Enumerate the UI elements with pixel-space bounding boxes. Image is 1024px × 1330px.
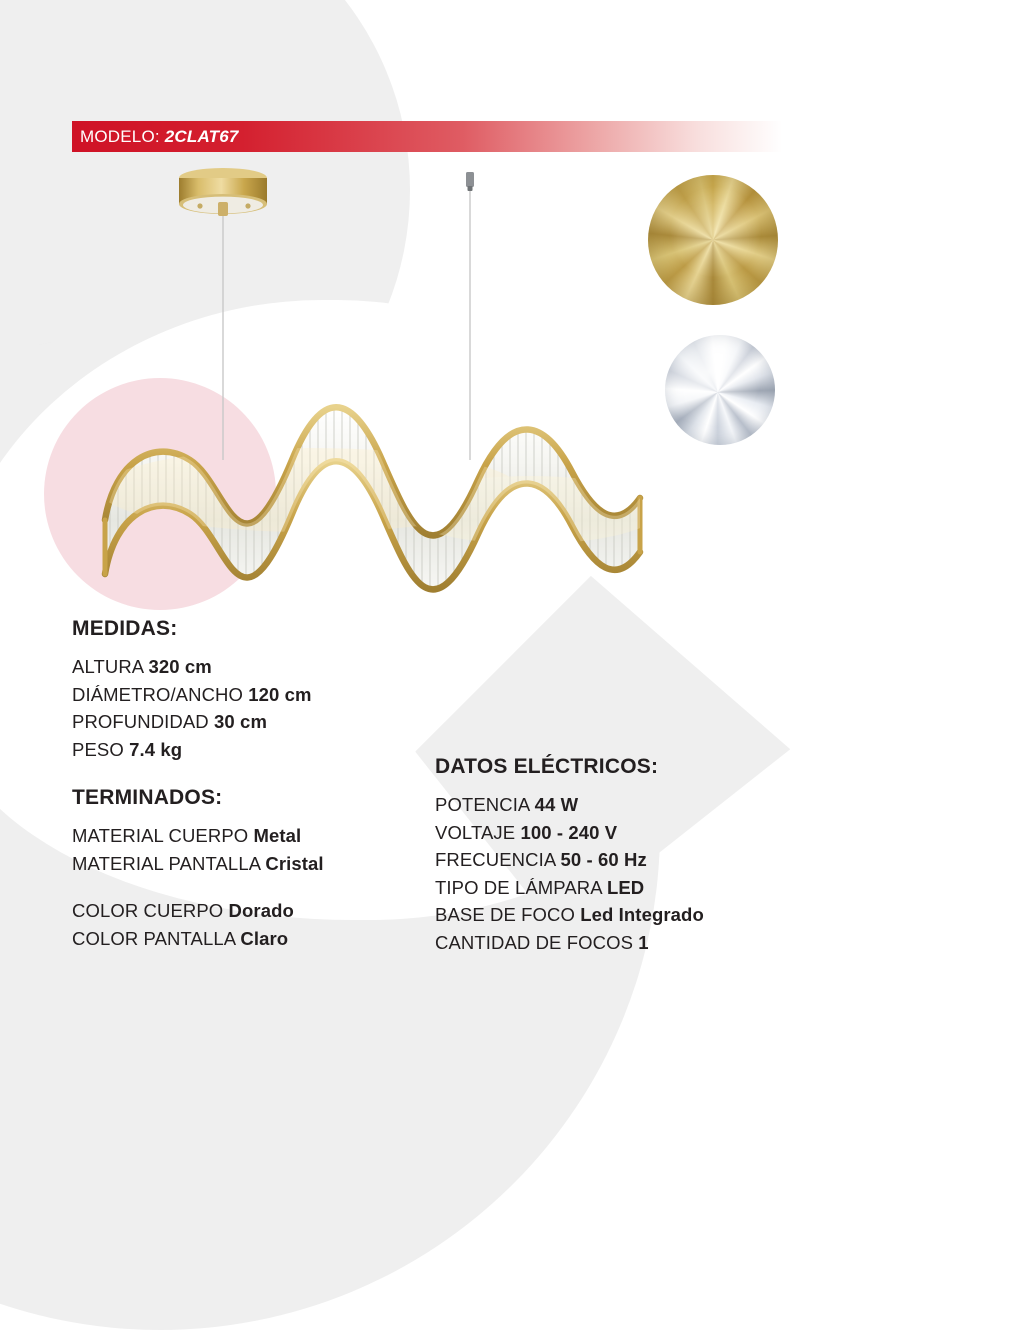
spec-row-peso: PESO 7.4 kg [72, 736, 312, 764]
spec-value: 50 - 60 Hz [561, 849, 647, 870]
cable-connector [466, 172, 474, 187]
spec-label: CANTIDAD DE FOCOS [435, 932, 633, 953]
spec-value: 100 - 240 V [520, 822, 617, 843]
wave-ribbon-body [100, 407, 660, 630]
electricos-heading: DATOS ELÉCTRICOS: [435, 755, 704, 779]
spec-label: VOLTAJE [435, 822, 515, 843]
cable-connector-tip [468, 186, 473, 191]
product-image [60, 160, 700, 610]
spec-value: Claro [240, 928, 288, 949]
spec-row-base-foco: BASE DE FOCO Led Integrado [435, 901, 704, 929]
model-banner: MODELO: 2CLAT67 [72, 121, 782, 152]
spec-value: Led Integrado [580, 904, 704, 925]
spec-label: MATERIAL CUERPO [72, 825, 248, 846]
spec-value: LED [607, 877, 644, 898]
spec-row-material-pantalla: MATERIAL PANTALLA Cristal [72, 850, 324, 878]
spec-row-color-pantalla: COLOR PANTALLA Claro [72, 925, 324, 953]
spec-value: 120 cm [248, 684, 311, 705]
spec-label: ALTURA [72, 656, 143, 677]
spec-value: 320 cm [148, 656, 211, 677]
datos-electricos-section: DATOS ELÉCTRICOS: POTENCIA 44 W VOLTAJE … [435, 755, 704, 956]
medidas-section: MEDIDAS: ALTURA 320 cm DIÁMETRO/ANCHO 12… [72, 617, 312, 763]
terminados-heading: TERMINADOS: [72, 786, 324, 810]
model-banner-text: MODELO: 2CLAT67 [80, 127, 239, 147]
spec-row-tipo-lampara: TIPO DE LÁMPARA LED [435, 874, 704, 902]
spec-value: 30 cm [214, 711, 267, 732]
terminados-section: TERMINADOS: MATERIAL CUERPO Metal MATERI… [72, 786, 324, 952]
product-spec-sheet: MODELO: 2CLAT67 [0, 0, 1024, 1024]
spec-value: Metal [254, 825, 302, 846]
spec-label: TIPO DE LÁMPARA [435, 877, 602, 898]
spec-label: POTENCIA [435, 794, 529, 815]
spec-value: 44 W [535, 794, 579, 815]
spec-label: PESO [72, 739, 124, 760]
model-code: 2CLAT67 [165, 127, 239, 146]
spec-label: MATERIAL PANTALLA [72, 853, 260, 874]
spec-label: DIÁMETRO/ANCHO [72, 684, 243, 705]
medidas-heading: MEDIDAS: [72, 617, 312, 641]
spec-label: PROFUNDIDAD [72, 711, 209, 732]
terminados-spacer [72, 877, 324, 897]
spec-value: Dorado [229, 900, 294, 921]
spec-row-material-cuerpo: MATERIAL CUERPO Metal [72, 822, 324, 850]
spec-label: COLOR PANTALLA [72, 928, 235, 949]
spec-row-profundidad: PROFUNDIDAD 30 cm [72, 708, 312, 736]
spec-row-potencia: POTENCIA 44 W [435, 791, 704, 819]
spec-row-altura: ALTURA 320 cm [72, 653, 312, 681]
spec-row-color-cuerpo: COLOR CUERPO Dorado [72, 897, 324, 925]
spec-label: COLOR CUERPO [72, 900, 223, 921]
spec-label: BASE DE FOCO [435, 904, 575, 925]
spec-value: 1 [638, 932, 648, 953]
spec-row-frecuencia: FRECUENCIA 50 - 60 Hz [435, 846, 704, 874]
spec-label: FRECUENCIA [435, 849, 555, 870]
spec-value: Cristal [265, 853, 323, 874]
spec-row-cantidad-focos: CANTIDAD DE FOCOS 1 [435, 929, 704, 957]
model-label: MODELO: [80, 127, 160, 146]
spec-row-voltaje: VOLTAJE 100 - 240 V [435, 819, 704, 847]
ceiling-canopy [179, 168, 267, 216]
spec-value: 7.4 kg [129, 739, 182, 760]
spec-row-diametro: DIÁMETRO/ANCHO 120 cm [72, 681, 312, 709]
